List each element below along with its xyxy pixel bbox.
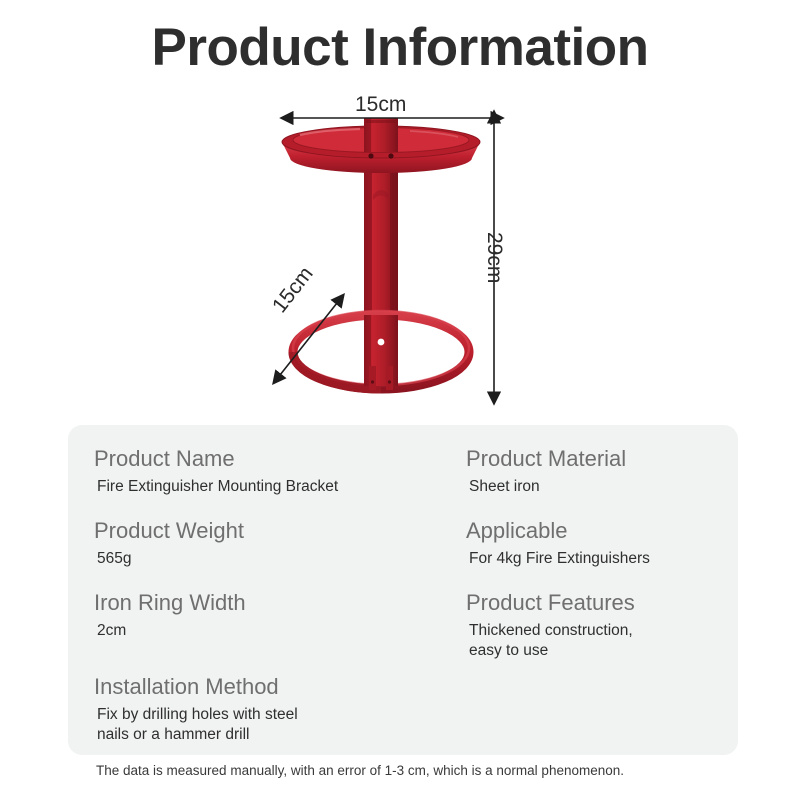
dimension-label-height: 29cm	[482, 232, 506, 283]
spec-value-product-material: Sheet iron	[466, 477, 746, 497]
spec-label-product-name: Product Name	[94, 443, 444, 475]
spec-value-installation-method: Fix by drilling holes with steel nails o…	[94, 705, 444, 745]
spec-item-product-weight: Product Weight 565g	[94, 515, 444, 569]
spec-label-installation-method: Installation Method	[94, 671, 444, 703]
spec-label-product-weight: Product Weight	[94, 515, 444, 547]
product-information-page: Product Information	[0, 0, 800, 800]
spec-item-product-name: Product Name Fire Extinguisher Mounting …	[94, 443, 444, 497]
product-illustration	[240, 90, 570, 410]
spec-label-iron-ring-width: Iron Ring Width	[94, 587, 444, 619]
spec-label-product-features: Product Features	[466, 587, 746, 619]
spec-item-product-features: Product Features Thickened construction,…	[466, 587, 746, 661]
page-title: Product Information	[0, 18, 800, 78]
bracket-drawing	[240, 90, 570, 410]
spec-column-right: Product Material Sheet iron Applicable F…	[466, 443, 746, 679]
spec-value-product-name: Fire Extinguisher Mounting Bracket	[94, 477, 444, 497]
spec-value-product-weight: 565g	[94, 549, 444, 569]
dimension-label-width: 15cm	[355, 93, 406, 117]
spec-item-installation-method: Installation Method Fix by drilling hole…	[94, 671, 444, 745]
spec-label-product-material: Product Material	[466, 443, 746, 475]
spec-label-applicable: Applicable	[466, 515, 746, 547]
spec-item-product-material: Product Material Sheet iron	[466, 443, 746, 497]
stem-lower	[364, 315, 398, 390]
spec-item-iron-ring-width: Iron Ring Width 2cm	[94, 587, 444, 641]
spec-value-applicable: For 4kg Fire Extinguishers	[466, 549, 746, 569]
spec-item-applicable: Applicable For 4kg Fire Extinguishers	[466, 515, 746, 569]
spec-column-left: Product Name Fire Extinguisher Mounting …	[94, 443, 444, 763]
measurement-footnote: The data is measured manually, with an e…	[96, 762, 624, 780]
specification-panel: Product Name Fire Extinguisher Mounting …	[68, 425, 738, 755]
spec-value-iron-ring-width: 2cm	[94, 621, 444, 641]
spec-value-product-features: Thickened construction, easy to use	[466, 621, 746, 661]
